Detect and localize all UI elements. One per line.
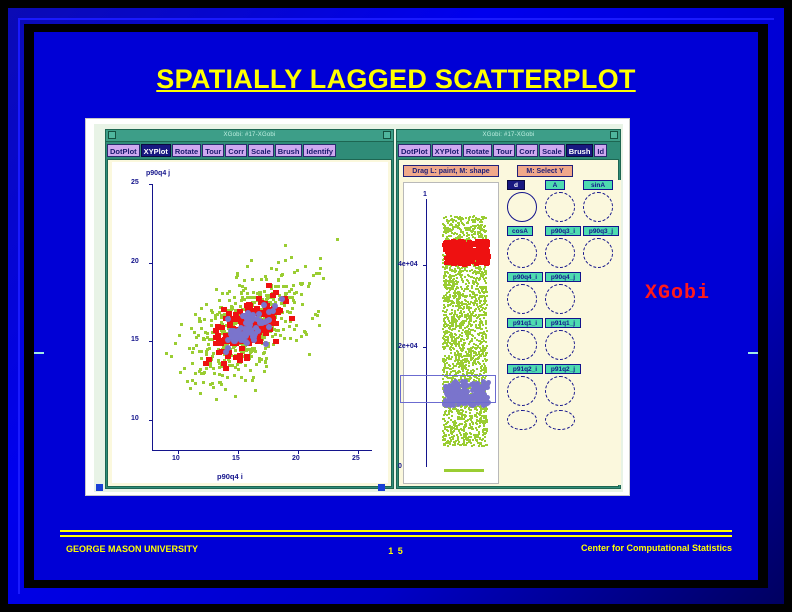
brush-point-default xyxy=(461,361,463,363)
brush-point-default xyxy=(448,291,450,293)
variable-rotation-dial[interactable] xyxy=(583,192,613,222)
data-point-default xyxy=(293,301,296,304)
brush-point-default xyxy=(446,309,448,311)
brush-point-default xyxy=(458,441,460,443)
brush-point-default xyxy=(456,410,458,412)
brush-point-default xyxy=(480,314,482,316)
brush-point-default xyxy=(485,334,487,336)
resize-handle-bottom-left[interactable] xyxy=(96,484,103,491)
brush-point-default xyxy=(452,284,454,286)
data-point-default xyxy=(291,296,294,299)
variable-rotation-dial[interactable] xyxy=(507,284,537,314)
menu-button-dotplot[interactable]: DotPlot xyxy=(107,144,140,157)
data-point-default xyxy=(304,331,307,334)
brush-point-default xyxy=(460,276,462,278)
data-point-default xyxy=(283,304,286,307)
brush-point-default xyxy=(484,433,486,435)
brush-point-default xyxy=(457,418,459,420)
brush-point-default xyxy=(473,360,475,362)
variable-rotation-dial[interactable] xyxy=(507,192,537,222)
page-title: SPATIALLY LAGGED SCATTERPLOT xyxy=(0,64,792,95)
data-point-selected xyxy=(273,339,279,344)
data-point-default xyxy=(293,292,296,295)
brush-point-default xyxy=(485,371,487,373)
data-point-default xyxy=(284,292,287,295)
brush-point-default xyxy=(468,234,470,236)
data-point-default xyxy=(183,367,186,370)
brush-point-default xyxy=(460,311,462,313)
data-point-selected xyxy=(239,346,245,351)
brush-point-default xyxy=(485,235,487,237)
brush-point-default xyxy=(468,427,470,429)
brush-point-purple xyxy=(444,403,449,408)
brush-point-default xyxy=(470,320,472,322)
brush-point-default xyxy=(481,445,483,447)
brush-dotplot-panel[interactable]: 14e+042e+040 xyxy=(403,182,499,484)
brush-point-default xyxy=(470,409,472,411)
data-point-default xyxy=(200,307,203,310)
data-point-default xyxy=(210,319,213,322)
brush-point-default xyxy=(448,355,450,357)
brush-point-default xyxy=(474,296,476,298)
menu-button-corr[interactable]: Corr xyxy=(516,144,538,157)
data-point-default xyxy=(290,288,293,291)
brush-point-default xyxy=(472,293,474,295)
brush-point-default xyxy=(473,215,475,217)
brush-point-default xyxy=(459,327,461,329)
data-point-default xyxy=(274,333,277,336)
menu-button-tour[interactable]: Tour xyxy=(202,144,224,157)
brush-point-default xyxy=(483,372,485,374)
brushpanel-tick-label: 1 xyxy=(423,191,427,198)
data-point-default xyxy=(200,357,203,360)
data-point-default xyxy=(249,369,252,372)
brush-point-default xyxy=(483,303,485,305)
data-point-default xyxy=(226,376,229,379)
brush-point-default xyxy=(458,318,460,320)
brush-point-default xyxy=(473,304,475,306)
variable-rotation-dial[interactable] xyxy=(545,376,575,406)
scatterplot-x-tick xyxy=(178,451,179,454)
data-point-default xyxy=(249,296,252,299)
brush-point-default xyxy=(478,353,480,355)
data-point-default xyxy=(311,317,314,320)
brush-point-default xyxy=(467,348,469,350)
brush-point-default xyxy=(454,318,456,320)
brush-point-default xyxy=(484,230,486,232)
brush-selection-rectangle[interactable] xyxy=(400,375,496,403)
brush-point-default xyxy=(445,331,447,333)
data-point-default xyxy=(207,343,210,346)
brush-point-default xyxy=(475,352,477,354)
data-point-selected xyxy=(266,283,272,288)
frame-tick-right xyxy=(748,352,758,354)
variable-rotation-dial[interactable] xyxy=(507,410,537,430)
brush-point-default xyxy=(463,322,465,324)
brush-point-default xyxy=(486,359,488,361)
brush-point-default xyxy=(460,302,462,304)
data-point-default xyxy=(234,395,237,398)
data-point-selected xyxy=(270,293,276,298)
menu-button-rotate[interactable]: Rotate xyxy=(172,144,201,157)
brush-point-default xyxy=(447,445,449,447)
right-window-titlebar[interactable]: XGobi: #17-XGobi xyxy=(397,130,620,142)
brush-point-red xyxy=(472,254,477,258)
window-maximize-icon[interactable] xyxy=(610,131,618,139)
brush-point-default xyxy=(467,335,469,337)
brush-point-default xyxy=(453,292,455,294)
scatterplot-y-tick xyxy=(149,263,152,264)
brush-point-default xyxy=(467,419,469,421)
brush-point-default xyxy=(467,315,469,317)
data-point-default xyxy=(274,285,277,288)
brush-point-default xyxy=(450,303,452,305)
menu-button-corr[interactable]: Corr xyxy=(225,144,247,157)
brush-point-default xyxy=(479,266,481,268)
brush-point-default xyxy=(479,412,481,414)
brush-point-default xyxy=(444,347,446,349)
brush-point-default xyxy=(474,347,476,349)
brush-point-default xyxy=(481,234,483,236)
brush-point-default xyxy=(452,421,454,423)
brush-point-default xyxy=(465,303,467,305)
menu-button-scale[interactable]: Scale xyxy=(248,144,274,157)
brush-point-default xyxy=(466,286,468,288)
brush-point-default xyxy=(485,288,487,290)
data-point-default xyxy=(218,381,221,384)
data-point-default xyxy=(231,307,234,310)
scatterplot-y-tick xyxy=(149,420,152,421)
data-point-default xyxy=(292,284,295,287)
variable-button-p91q2-j[interactable]: p91q2_j xyxy=(545,364,581,374)
brush-point-default xyxy=(466,279,468,281)
brush-point-default xyxy=(444,439,446,441)
data-point-default xyxy=(284,320,287,323)
brush-point-default xyxy=(443,358,445,360)
variable-button-p91q1-i[interactable]: p91q1_i xyxy=(507,318,543,328)
data-point-default xyxy=(264,347,267,350)
data-point-default xyxy=(300,293,303,296)
brush-point-default xyxy=(486,428,488,430)
variable-button-a[interactable]: A xyxy=(545,180,565,190)
menu-button-xyplot[interactable]: XYPlot xyxy=(141,144,171,157)
data-point-default xyxy=(200,350,203,353)
menu-button-identify[interactable]: Identify xyxy=(303,144,336,157)
brush-point-default xyxy=(478,308,480,310)
scatterplot-canvas[interactable]: p90q4 j p90q4 i 2520151010152025 xyxy=(112,162,388,483)
brush-point-default xyxy=(461,335,463,337)
brushpanel-tickmark xyxy=(423,347,426,348)
variable-rotation-dial[interactable] xyxy=(507,330,537,360)
scatterplot-x-tick xyxy=(298,451,299,454)
brush-point-default xyxy=(481,338,483,340)
brush-point-default xyxy=(486,291,488,293)
brush-point-default xyxy=(449,230,451,232)
data-point-default xyxy=(194,382,197,385)
brush-point-default xyxy=(443,231,445,233)
brush-point-default xyxy=(476,409,478,411)
window-maximize-icon[interactable] xyxy=(383,131,391,139)
brush-point-default xyxy=(446,414,448,416)
data-point-default xyxy=(304,265,307,268)
variable-button-p90q3-j[interactable]: p90q3_j xyxy=(583,226,619,236)
data-point-default xyxy=(186,380,189,383)
brush-point-default xyxy=(466,338,468,340)
brush-point-default xyxy=(463,418,465,420)
brush-point-default xyxy=(479,442,481,444)
brush-point-default xyxy=(442,343,444,345)
brush-point-default xyxy=(462,443,464,445)
variable-button-sina[interactable]: sinA xyxy=(583,180,613,190)
brush-point-default xyxy=(448,417,450,419)
brush-point-default xyxy=(463,367,465,369)
left-window-titlebar[interactable]: XGobi: #17-XGobi xyxy=(106,130,393,142)
brush-point-default xyxy=(475,280,477,282)
brush-point-default xyxy=(449,278,451,280)
data-point-default xyxy=(189,387,192,390)
variable-button-cosa[interactable]: cosA xyxy=(507,226,533,236)
brush-point-default xyxy=(485,320,487,322)
brush-point-default xyxy=(451,309,453,311)
brush-point-default xyxy=(467,307,469,309)
brush-point-default xyxy=(448,410,450,412)
brush-point-default xyxy=(478,433,480,435)
resize-handle-bottom-middle[interactable] xyxy=(378,484,385,491)
data-point-default xyxy=(205,303,208,306)
data-point-default xyxy=(275,329,278,332)
brush-point-default xyxy=(485,277,487,279)
menu-button-brush[interactable]: Brush xyxy=(566,144,594,157)
variable-rotation-dial[interactable] xyxy=(545,238,575,268)
brush-point-default xyxy=(472,335,474,337)
brush-point-default xyxy=(464,365,466,367)
data-point-default xyxy=(296,269,299,272)
brush-point-default xyxy=(469,311,471,313)
brush-point-default xyxy=(469,323,471,325)
brush-point-default xyxy=(458,430,460,432)
brush-point-default xyxy=(450,235,452,237)
brush-point-default xyxy=(457,325,459,327)
brush-point-default xyxy=(462,349,464,351)
data-point-default xyxy=(206,332,209,335)
brush-point-red xyxy=(453,256,458,260)
brush-point-default xyxy=(486,420,488,422)
data-point-default xyxy=(191,362,194,365)
data-point-default xyxy=(318,324,321,327)
data-point-brushed xyxy=(228,328,234,334)
brush-point-default xyxy=(452,437,454,439)
data-point-default xyxy=(282,285,285,288)
brush-point-default xyxy=(469,354,471,356)
brush-point-default xyxy=(459,273,461,275)
brush-point-default xyxy=(478,333,480,335)
brush-point-default xyxy=(475,273,477,275)
data-point-default xyxy=(188,347,191,350)
brush-point-default xyxy=(442,436,444,438)
data-point-default xyxy=(216,313,219,316)
brush-point-default xyxy=(462,231,464,233)
scatterplot-x-tick xyxy=(238,451,239,454)
brush-point-default xyxy=(466,330,468,332)
variable-button-p90q4-i[interactable]: p90q4_i xyxy=(507,272,543,282)
scatterplot-y-tick xyxy=(149,184,152,185)
brush-point-default xyxy=(454,339,456,341)
brush-point-default xyxy=(457,267,459,269)
brush-point-default xyxy=(475,271,477,273)
brush-point-default xyxy=(480,366,482,368)
brush-point-default xyxy=(466,326,468,328)
data-point-selected xyxy=(256,296,262,301)
scatterplot-y-axis xyxy=(152,184,153,450)
menu-button-id[interactable]: Id xyxy=(594,144,607,157)
data-point-default xyxy=(228,299,231,302)
brush-point-default xyxy=(458,291,460,293)
brush-point-default xyxy=(472,422,474,424)
brush-point-default xyxy=(481,216,483,218)
brush-point-default xyxy=(453,233,455,235)
brush-point-default xyxy=(462,308,464,310)
xgobi-application-body: XGobi: #17-XGobi DotPlotXYPlotRotateTour… xyxy=(94,124,623,492)
variable-rotation-dial[interactable] xyxy=(545,410,575,430)
brush-point-default xyxy=(444,225,446,227)
data-point-selected xyxy=(254,306,260,311)
brush-point-default xyxy=(465,436,467,438)
scatterplot-x-tick-label: 20 xyxy=(292,455,300,462)
data-point-default xyxy=(221,374,224,377)
brush-point-red xyxy=(445,259,450,263)
brush-point-default xyxy=(482,272,484,274)
brush-point-default xyxy=(486,304,488,306)
data-point-brushed xyxy=(256,311,262,317)
brush-point-red xyxy=(450,242,455,246)
scatterplot-x-tick xyxy=(358,451,359,454)
brush-point-default xyxy=(478,236,480,238)
brush-point-default xyxy=(468,372,470,374)
brush-point-default xyxy=(444,306,446,308)
data-point-default xyxy=(224,388,227,391)
brush-point-default xyxy=(472,346,474,348)
variable-button-d[interactable]: d xyxy=(507,180,525,190)
menu-button-dotplot[interactable]: DotPlot xyxy=(398,144,431,157)
variable-rotation-dial[interactable] xyxy=(507,238,537,268)
data-point-default xyxy=(240,376,243,379)
brush-point-default xyxy=(461,332,463,334)
menu-button-rotate[interactable]: Rotate xyxy=(463,144,492,157)
data-point-default xyxy=(308,282,311,285)
brush-point-default xyxy=(446,339,448,341)
brush-point-default xyxy=(449,294,451,296)
variable-button-p90q4-j[interactable]: p90q4_j xyxy=(545,272,581,282)
brush-point-default xyxy=(467,360,469,362)
brush-point-default xyxy=(445,311,447,313)
slide: SPATIALLY LAGGED SCATTERPLOT XGobi: #17-… xyxy=(0,0,792,612)
xgobi-window-right: XGobi: #17-XGobi DotPlotXYPlotRotateTour… xyxy=(396,129,621,489)
brush-point-default xyxy=(476,439,478,441)
brush-point-default xyxy=(455,270,457,272)
left-plot-body: p90q4 j p90q4 i 2520151010152025 xyxy=(107,159,392,487)
data-point-default xyxy=(280,317,283,320)
brush-point-default xyxy=(481,295,483,297)
brush-point-default xyxy=(453,365,455,367)
variable-rotation-dial[interactable] xyxy=(545,330,575,360)
brush-point-default xyxy=(481,322,483,324)
brush-point-default xyxy=(454,328,456,330)
variable-rotation-dial[interactable] xyxy=(545,192,575,222)
variable-rotation-dial[interactable] xyxy=(583,238,613,268)
brush-point-default xyxy=(454,428,456,430)
variable-rotation-dial[interactable] xyxy=(545,284,575,314)
right-window-body: Drag L: paint, M: shape M: Select Y 14e+… xyxy=(398,159,619,487)
brush-point-default xyxy=(482,360,484,362)
data-point-default xyxy=(179,371,182,374)
brush-point-default xyxy=(476,429,478,431)
variable-button-p91q1-j[interactable]: p91q1_j xyxy=(545,318,581,328)
brushpanel-tickmark xyxy=(423,265,426,266)
brush-point-default xyxy=(471,287,473,289)
data-point-default xyxy=(199,392,202,395)
brush-point-default xyxy=(461,279,463,281)
brush-point-default xyxy=(467,369,469,371)
menu-button-brush[interactable]: Brush xyxy=(275,144,303,157)
brush-point-default xyxy=(479,437,481,439)
data-point-brushed xyxy=(225,316,231,322)
brush-point-default xyxy=(444,434,446,436)
brush-point-default xyxy=(474,337,476,339)
brush-point-default xyxy=(463,430,465,432)
brush-point-default xyxy=(442,430,444,432)
brush-point-default xyxy=(454,360,456,362)
brush-point-default xyxy=(451,336,453,338)
variable-button-p90q3-i[interactable]: p90q3_i xyxy=(545,226,581,236)
brush-point-default xyxy=(472,221,474,223)
brush-point-default xyxy=(450,432,452,434)
brush-point-default xyxy=(446,345,448,347)
data-point-brushed xyxy=(279,296,285,302)
variable-button-p91q2-i[interactable]: p91q2_i xyxy=(507,364,543,374)
variable-rotation-dial[interactable] xyxy=(507,376,537,406)
brush-point-default xyxy=(449,342,451,344)
data-point-default xyxy=(203,318,206,321)
brush-point-default xyxy=(470,427,472,429)
brush-point-default xyxy=(448,327,450,329)
brush-point-default xyxy=(466,295,468,297)
menu-button-tour[interactable]: Tour xyxy=(493,144,515,157)
data-point-default xyxy=(198,320,201,323)
brush-point-default xyxy=(449,442,451,444)
brush-point-default xyxy=(457,352,459,354)
data-point-default xyxy=(260,278,263,281)
brush-point-default xyxy=(476,339,478,341)
data-point-selected xyxy=(233,317,239,322)
data-point-default xyxy=(239,305,242,308)
menu-button-scale[interactable]: Scale xyxy=(539,144,565,157)
scatterplot-x-tick-label: 25 xyxy=(352,455,360,462)
brush-point-default xyxy=(481,221,483,223)
brush-point-default xyxy=(451,340,453,342)
brush-point-default xyxy=(484,217,486,219)
data-point-default xyxy=(277,278,280,281)
brush-point-default xyxy=(447,430,449,432)
brush-point-default xyxy=(451,300,453,302)
brush-point-default xyxy=(480,409,482,411)
brush-point-default xyxy=(455,220,457,222)
brush-point-default xyxy=(467,301,469,303)
data-point-default xyxy=(241,285,244,288)
frame-hairline-left xyxy=(18,18,20,594)
menu-button-xyplot[interactable]: XYPlot xyxy=(432,144,462,157)
brush-point-default xyxy=(474,330,476,332)
brush-point-default xyxy=(463,440,465,442)
